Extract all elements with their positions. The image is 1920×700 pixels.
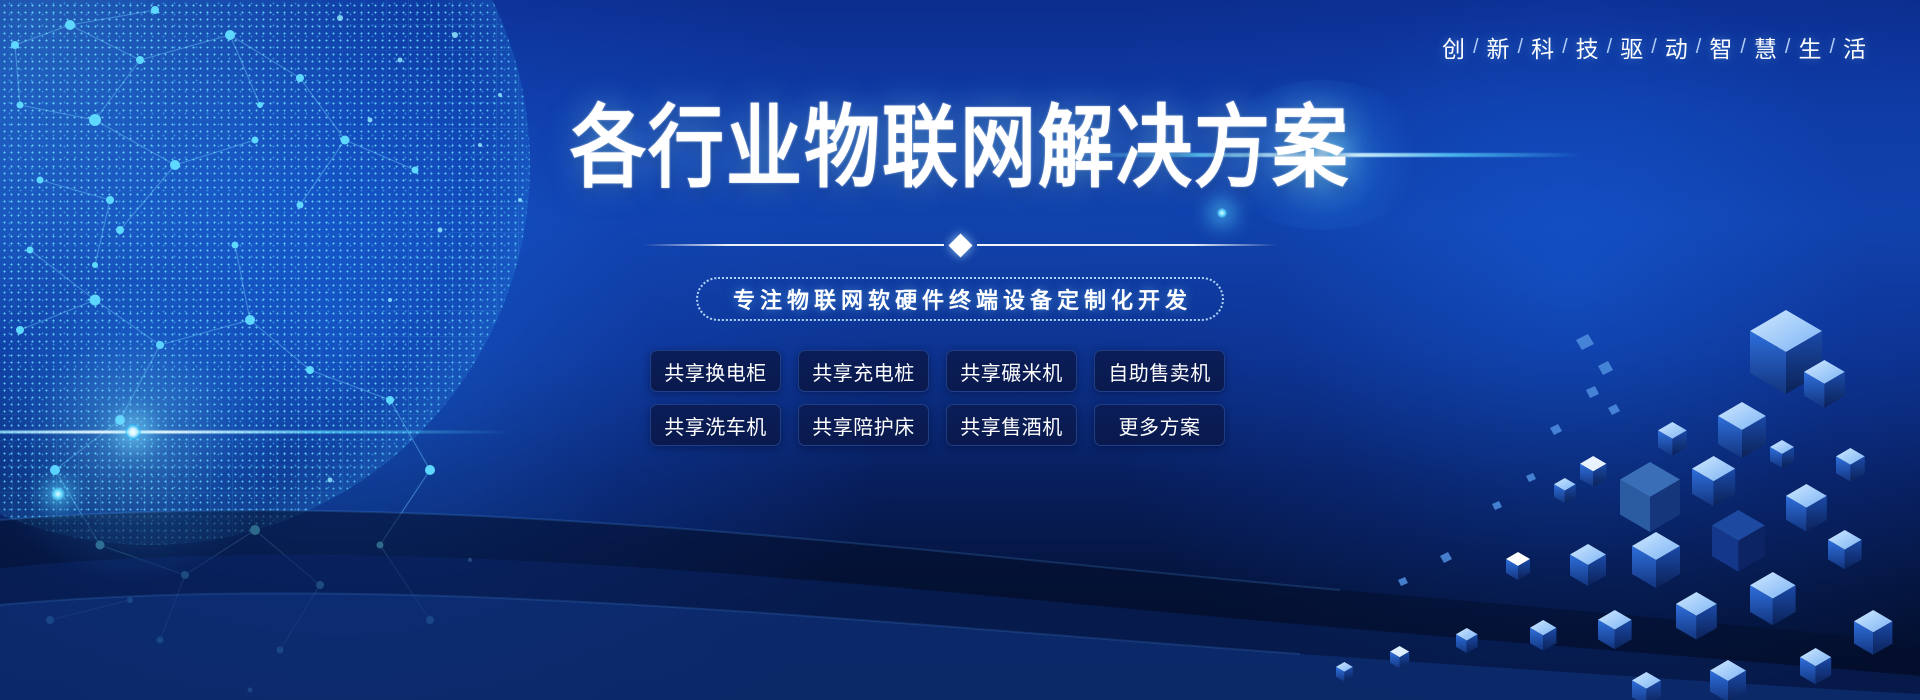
tagline-separator: / [1783,36,1794,59]
subtitle: 专注物联网软硬件终端设备定制化开发 [728,283,1192,315]
solution-tag-button[interactable]: 共享换电柜 [650,350,781,392]
tagline-char: 创 [1437,30,1471,64]
iot-solution-banner: 创/新/科/技/驱/动/智/慧/生/活 各行业物联网解决方案 专注物联网软硬件终… [0,0,1920,700]
banner-content: 创/新/科/技/驱/动/智/慧/生/活 各行业物联网解决方案 专注物联网软硬件终… [0,0,1920,700]
tagline-char: 技 [1571,30,1605,64]
title-divider [643,234,1277,256]
tagline-separator: / [1605,36,1616,59]
tagline-separator: / [1560,36,1571,59]
page-title: 各行业物联网解决方案 [570,104,1350,194]
tagline-separator: / [1471,36,1482,59]
tagline-separator: / [1649,36,1660,59]
subtitle-pill: 专注物联网软硬件终端设备定制化开发 [696,277,1224,321]
tagline-separator: / [1694,36,1705,59]
tagline-char: 动 [1660,30,1694,64]
diamond-icon [948,233,972,257]
tagline-char: 驱 [1615,30,1649,64]
tagline-char: 新 [1482,30,1516,64]
tag-row: 共享洗车机共享陪护床共享售酒机更多方案 [650,404,1270,446]
solution-tag-button[interactable]: 共享充电桩 [798,350,929,392]
tagline-char: 慧 [1749,30,1783,64]
tagline-char: 生 [1793,30,1827,64]
divider-line-left [643,244,944,246]
solution-tag-button[interactable]: 更多方案 [1094,404,1225,446]
solution-tag-button[interactable]: 自助售卖机 [1094,350,1225,392]
tagline-separator: / [1827,36,1838,59]
title-block: 各行业物联网解决方案 [0,104,1920,180]
tagline-char: 科 [1526,30,1560,64]
solution-tag-list: 共享换电柜共享充电桩共享碾米机自助售卖机共享洗车机共享陪护床共享售酒机更多方案 [650,350,1270,458]
tag-row: 共享换电柜共享充电桩共享碾米机自助售卖机 [650,350,1270,392]
tagline-char: 智 [1704,30,1738,64]
solution-tag-button[interactable]: 共享碾米机 [946,350,1077,392]
solution-tag-button[interactable]: 共享售酒机 [946,404,1077,446]
tagline-separator: / [1738,36,1749,59]
solution-tag-button[interactable]: 共享陪护床 [798,404,929,446]
tagline-separator: / [1516,36,1527,59]
tagline-char: 活 [1838,30,1872,64]
divider-line-right [977,244,1278,246]
solution-tag-button[interactable]: 共享洗车机 [650,404,781,446]
tagline: 创/新/科/技/驱/动/智/慧/生/活 [1437,30,1872,64]
